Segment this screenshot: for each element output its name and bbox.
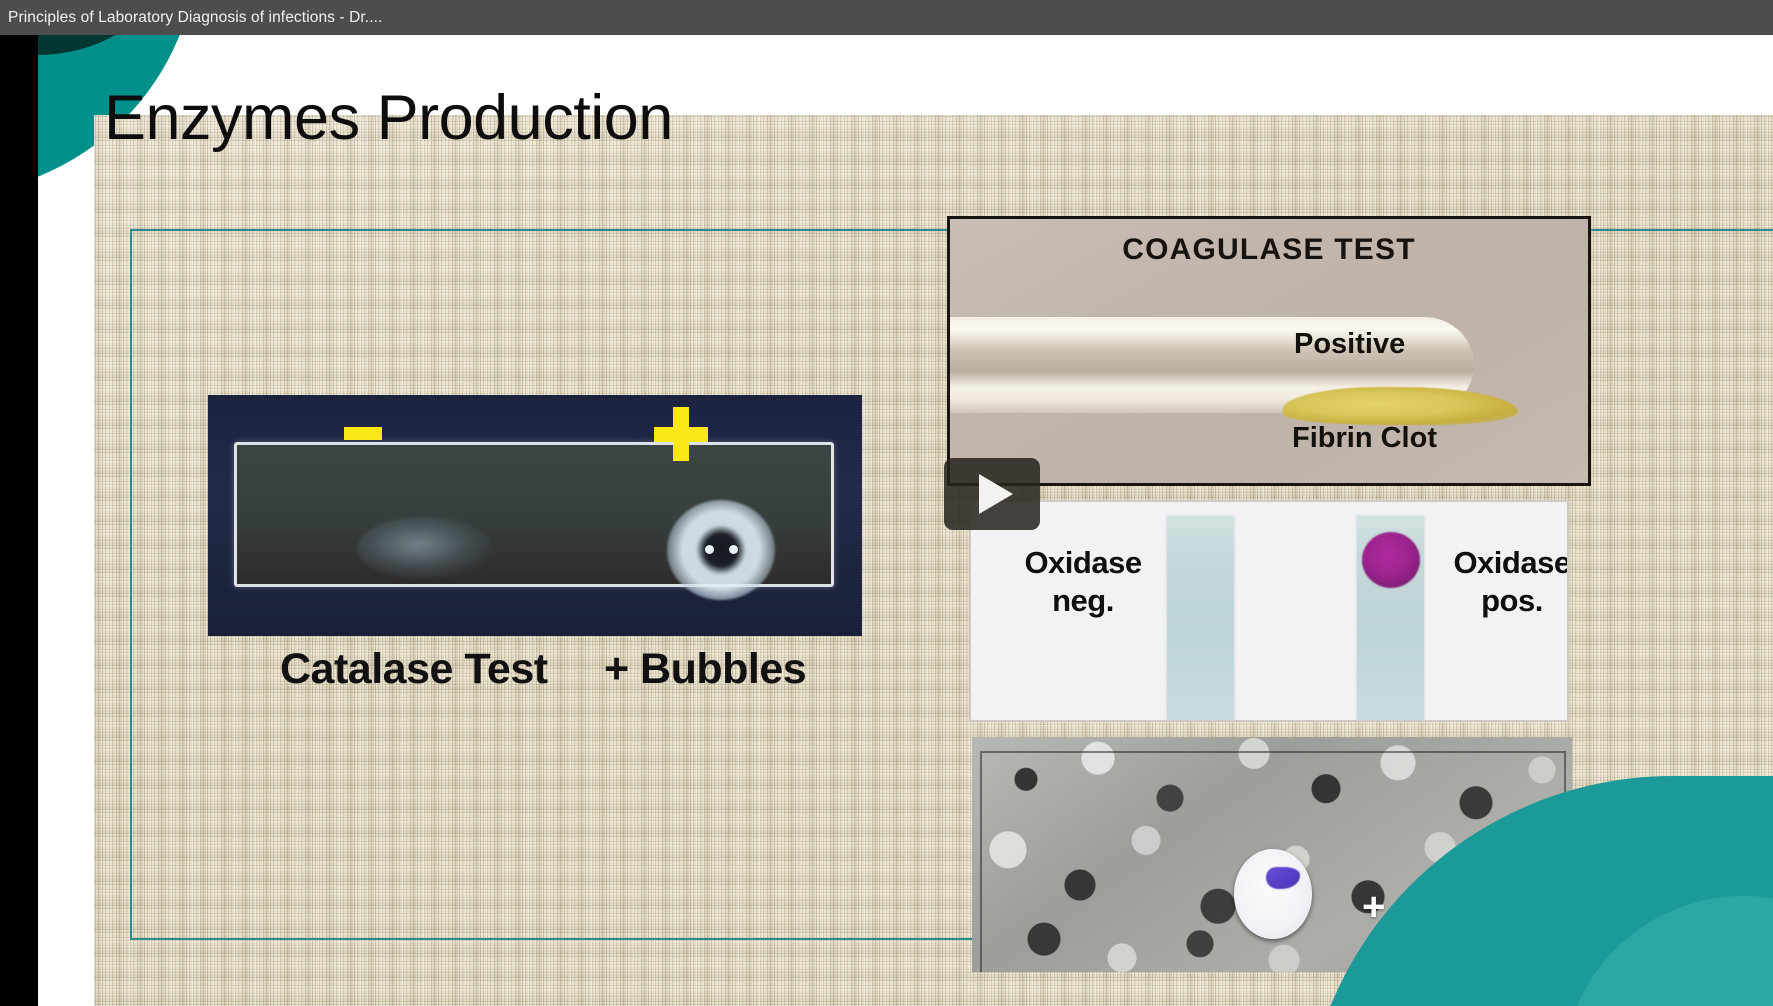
oxidase-positive-label: Oxidase pos. <box>1437 544 1569 620</box>
catalase-test-label: Catalase Test <box>280 645 548 694</box>
letterbox-left-bar <box>0 35 38 1006</box>
catalase-bubbles-label: + Bubbles <box>604 645 806 694</box>
microscope-slide-graphic <box>234 442 834 587</box>
window-title-bar: Principles of Laboratory Diagnosis of in… <box>0 0 1773 35</box>
screen: Principles of Laboratory Diagnosis of in… <box>0 0 1773 1006</box>
catalase-test-image <box>208 395 862 636</box>
oxidase-negative-strip <box>1167 516 1234 722</box>
catalase-negative-drop <box>357 517 492 579</box>
coagulase-positive-label: Positive <box>1294 328 1405 361</box>
oxidase-strip-image: Oxidase neg. Oxidase pos. <box>969 500 1569 722</box>
window-title-text: Principles of Laboratory Diagnosis of in… <box>8 9 382 27</box>
slide-title: Enzymes Production <box>104 85 673 151</box>
play-button[interactable] <box>944 458 1040 530</box>
coagulase-test-image: COAGULASE TEST Positive Fibrin Clot <box>947 216 1591 486</box>
bubble-highlight-icon <box>729 545 738 554</box>
presentation-slide: Enzymes Production psm.edu Catalase Test… <box>38 35 1773 1006</box>
plus-sign-icon <box>654 407 708 461</box>
catalase-positive-drop <box>667 500 775 600</box>
play-triangle-icon <box>979 474 1013 514</box>
coagulase-test-heading: COAGULASE TEST <box>950 233 1588 267</box>
fibrin-clot-label: Fibrin Clot <box>1292 422 1437 455</box>
oxidase-disc <box>1234 849 1312 939</box>
minus-sign-icon <box>344 427 382 440</box>
catalase-caption-row: Catalase Test + Bubbles <box>208 645 868 705</box>
fibrin-clot-graphic <box>1283 387 1518 425</box>
oxidase-negative-label: Oxidase neg. <box>1013 544 1153 620</box>
bubble-highlight-icon <box>705 545 714 554</box>
oxidase-positive-spot <box>1362 532 1420 588</box>
